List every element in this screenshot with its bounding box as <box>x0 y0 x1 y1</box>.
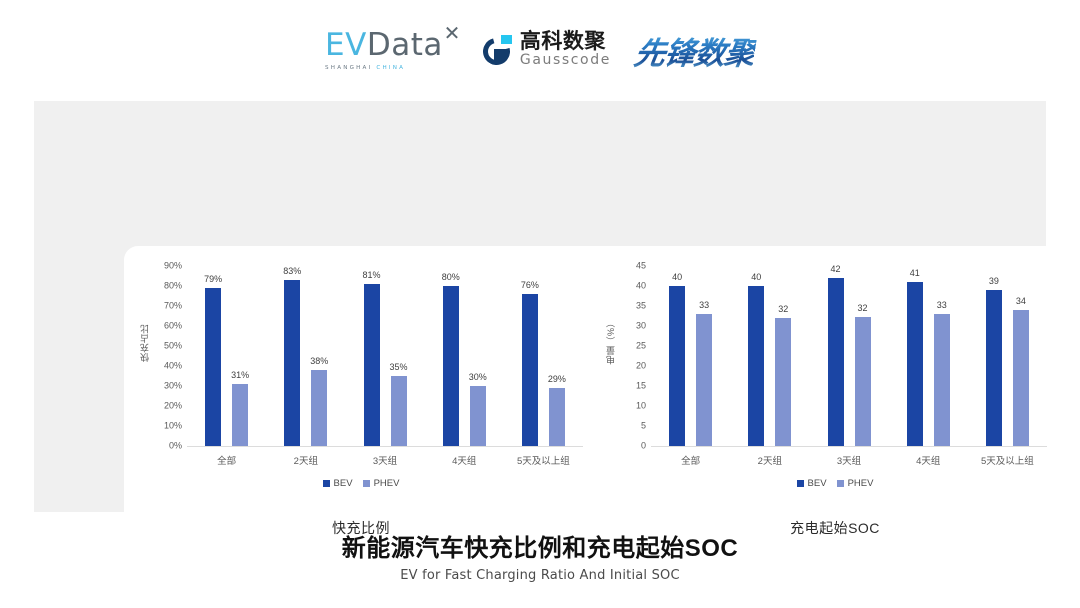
bar-bev[interactable]: 83% <box>284 280 300 446</box>
category-label: 3天组 <box>809 453 888 467</box>
bar-value-label: 41 <box>910 268 920 278</box>
page-title: 新能源汽车快充比例和充电起始SOC <box>0 528 1080 563</box>
bar-value-label: 76% <box>521 280 539 290</box>
bar-group: 39 34 <box>968 266 1047 446</box>
bar-value-label: 79% <box>204 274 222 284</box>
bar-group: 41 33 <box>889 266 968 446</box>
bar-bev[interactable]: 39 <box>986 290 1002 446</box>
bar-group: 42 32 <box>809 266 888 446</box>
bar-group: 83% 38% <box>266 266 345 446</box>
evdata-word-ev: EV <box>325 27 367 63</box>
x-axis-line-right <box>651 446 1047 447</box>
x-axis-categories-left: 全部 2天组 3天组 4天组 5天及以上组 <box>187 453 583 467</box>
legend-swatch-phev-icon <box>837 480 844 487</box>
evdata-wordmark: EVData ✕ <box>325 30 459 61</box>
category-label: 4天组 <box>425 453 504 467</box>
evdata-tagline-city: SHANGHAI <box>325 65 372 71</box>
bar-group: 40 32 <box>730 266 809 446</box>
bar-phev[interactable]: 32 <box>855 317 871 446</box>
bar-value-label: 42 <box>830 264 840 274</box>
gausscode-circle-icon <box>483 35 513 65</box>
category-label: 全部 <box>651 453 730 467</box>
bar-value-label: 33 <box>937 300 947 310</box>
bar-value-label: 83% <box>283 266 301 276</box>
legend-swatch-bev-icon <box>323 480 330 487</box>
bar-value-label: 40 <box>672 272 682 282</box>
legend-swatch-bev-icon <box>797 480 804 487</box>
bar-value-label: 29% <box>548 374 566 384</box>
bar-value-label: 32 <box>778 304 788 314</box>
legend-label-bev: BEV <box>334 478 353 489</box>
chart-initial-charging-soc: 电量（%） 45 40 35 30 25 20 15 10 5 0 40 33 <box>598 246 1072 569</box>
bar-value-label: 31% <box>231 370 249 380</box>
y-axis-ticks-left: 90% 80% 70% 60% 50% 40% 30% 20% 10% 0% <box>148 266 182 446</box>
y-axis-ticks-right: 45 40 35 30 25 20 15 10 5 0 <box>612 266 646 446</box>
charts-card: 快充占比 90% 80% 70% 60% 50% 40% 30% 20% 10%… <box>124 246 1072 569</box>
legend-label-phev: PHEV <box>374 478 400 489</box>
gausscode-name-cn: 高科数聚 <box>520 31 611 53</box>
bar-value-label: 33 <box>699 300 709 310</box>
legend-item-phev[interactable]: PHEV <box>363 478 400 489</box>
bar-phev[interactable]: 29% <box>549 388 565 446</box>
x-axis-categories-right: 全部 2天组 3天组 4天组 5天及以上组 <box>651 453 1047 467</box>
content-panel: 快充占比 90% 80% 70% 60% 50% 40% 30% 20% 10%… <box>34 101 1046 512</box>
bar-bev[interactable]: 40 <box>669 286 685 446</box>
gausscode-name-en: Gausscode <box>520 53 611 68</box>
bar-bev[interactable]: 76% <box>522 294 538 446</box>
chart-fast-charging-ratio: 快充占比 90% 80% 70% 60% 50% 40% 30% 20% 10%… <box>124 246 598 569</box>
category-label: 2天组 <box>266 453 345 467</box>
bar-phev[interactable]: 34 <box>1013 310 1029 446</box>
bar-value-label: 38% <box>310 356 328 366</box>
evdata-logo: EVData ✕ SHANGHAI CHINA <box>325 30 459 71</box>
bar-group: 81% 35% <box>345 266 424 446</box>
evdata-tagline-country: CHINA <box>376 65 405 71</box>
bar-value-label: 81% <box>362 270 380 280</box>
bar-value-label: 35% <box>389 362 407 372</box>
x-axis-line-left <box>187 446 583 447</box>
evdata-word-data: Data <box>367 27 443 63</box>
bar-value-label: 32 <box>857 303 867 313</box>
legend-item-bev[interactable]: BEV <box>323 478 353 489</box>
bar-phev[interactable]: 31% <box>232 384 248 446</box>
logo-strip: EVData ✕ SHANGHAI CHINA 高科数聚 Gausscode 先… <box>0 22 1080 78</box>
bar-bev[interactable]: 80% <box>443 286 459 446</box>
legend-item-bev[interactable]: BEV <box>797 478 827 489</box>
category-label: 3天组 <box>345 453 424 467</box>
bar-group: 76% 29% <box>504 266 583 446</box>
bar-bev[interactable]: 81% <box>364 284 380 446</box>
category-label: 全部 <box>187 453 266 467</box>
bar-value-label: 34 <box>1016 296 1026 306</box>
bar-value-label: 80% <box>442 272 460 282</box>
x-mark-icon: ✕ <box>444 23 461 43</box>
category-label: 5天及以上组 <box>504 453 583 467</box>
legend-swatch-phev-icon <box>363 480 370 487</box>
bar-group: 79% 31% <box>187 266 266 446</box>
bar-phev[interactable]: 33 <box>696 314 712 446</box>
legend-label-bev: BEV <box>808 478 827 489</box>
bar-value-label: 40 <box>751 272 761 282</box>
legend-right: BEV PHEV <box>598 478 1072 489</box>
gausscode-logo: 高科数聚 Gausscode <box>483 31 611 68</box>
legend-left: BEV PHEV <box>124 478 598 489</box>
page-subtitle: EV for Fast Charging Ratio And Initial S… <box>0 568 1080 583</box>
legend-item-phev[interactable]: PHEV <box>837 478 874 489</box>
bar-bev[interactable]: 40 <box>748 286 764 446</box>
category-label: 5天及以上组 <box>968 453 1047 467</box>
category-label: 4天组 <box>889 453 968 467</box>
bar-phev[interactable]: 32 <box>775 318 791 446</box>
bar-group: 40 33 <box>651 266 730 446</box>
bar-phev[interactable]: 33 <box>934 314 950 446</box>
plot-area-right: 40 33 40 32 42 32 41 33 <box>651 266 1047 447</box>
legend-label-phev: PHEV <box>848 478 874 489</box>
bar-value-label: 30% <box>469 372 487 382</box>
bar-bev[interactable]: 79% <box>205 288 221 446</box>
category-label: 2天组 <box>730 453 809 467</box>
bar-bev[interactable]: 42 <box>828 278 844 446</box>
xianfeng-logo: 先锋数聚 <box>631 28 758 73</box>
bar-bev[interactable]: 41 <box>907 282 923 446</box>
bar-group: 80% 30% <box>425 266 504 446</box>
bar-phev[interactable]: 38% <box>311 370 327 446</box>
plot-area-left: 79% 31% 83% 38% 81% 35% 80% 30% <box>187 266 583 447</box>
bar-value-label: 39 <box>989 276 999 286</box>
bar-phev[interactable]: 35% <box>391 376 407 446</box>
footer: 新能源汽车快充比例和充电起始SOC EV for Fast Charging R… <box>0 528 1080 583</box>
bar-phev[interactable]: 30% <box>470 386 486 446</box>
evdata-tagline: SHANGHAI CHINA <box>325 65 405 71</box>
bar-groups-left: 79% 31% 83% 38% 81% 35% 80% 30% <box>187 266 583 446</box>
bar-groups-right: 40 33 40 32 42 32 41 33 <box>651 266 1047 446</box>
